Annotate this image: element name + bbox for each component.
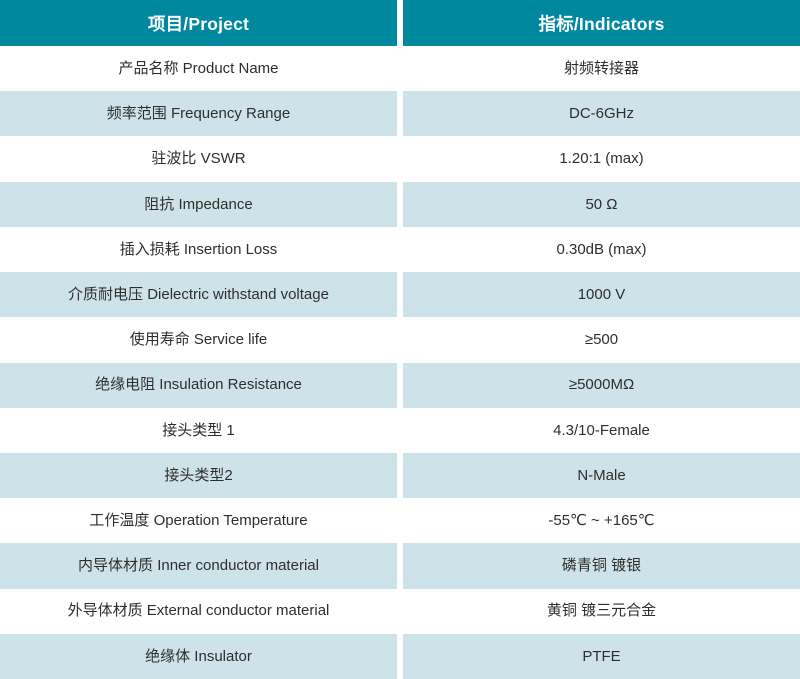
table-row: 绝缘体 InsulatorPTFE xyxy=(0,634,800,679)
specification-table: 项目/Project 指标/Indicators 产品名称 Product Na… xyxy=(0,0,800,679)
table-row: 频率范围 Frequency RangeDC-6GHz xyxy=(0,91,800,136)
cell-project: 阻抗 Impedance xyxy=(0,182,397,227)
cell-project: 接头类型 1 xyxy=(0,408,397,453)
cell-project: 频率范围 Frequency Range xyxy=(0,91,397,136)
cell-indicator: 1000 V xyxy=(403,272,800,317)
cell-indicator: -55℃ ~ +165℃ xyxy=(403,498,800,543)
cell-project: 插入损耗 Insertion Loss xyxy=(0,227,397,272)
table-row: 介质耐电压 Dielectric withstand voltage1000 V xyxy=(0,272,800,317)
column-header-project: 项目/Project xyxy=(0,0,397,46)
table-row: 使用寿命 Service life≥500 xyxy=(0,317,800,362)
table-row: 接头类型2N-Male xyxy=(0,453,800,498)
table-row: 驻波比 VSWR1.20:1 (max) xyxy=(0,136,800,181)
table-row: 阻抗 Impedance50 Ω xyxy=(0,182,800,227)
table-header-row: 项目/Project 指标/Indicators xyxy=(0,0,800,46)
cell-project: 内导体材质 Inner conductor material xyxy=(0,543,397,588)
cell-project: 介质耐电压 Dielectric withstand voltage xyxy=(0,272,397,317)
cell-indicator: 50 Ω xyxy=(403,182,800,227)
cell-indicator: N-Male xyxy=(403,453,800,498)
cell-indicator: ≥5000MΩ xyxy=(403,363,800,408)
table-row: 插入损耗 Insertion Loss0.30dB (max) xyxy=(0,227,800,272)
cell-indicator: 4.3/10-Female xyxy=(403,408,800,453)
cell-indicator: 磷青铜 镀银 xyxy=(403,543,800,588)
cell-project: 工作温度 Operation Temperature xyxy=(0,498,397,543)
cell-project: 产品名称 Product Name xyxy=(0,46,397,91)
cell-project: 接头类型2 xyxy=(0,453,397,498)
cell-project: 绝缘体 Insulator xyxy=(0,634,397,679)
column-header-indicators: 指标/Indicators xyxy=(403,0,800,46)
cell-indicator: 射频转接器 xyxy=(403,46,800,91)
cell-project: 绝缘电阻 Insulation Resistance xyxy=(0,363,397,408)
table-row: 产品名称 Product Name射频转接器 xyxy=(0,46,800,91)
table-row: 绝缘电阻 Insulation Resistance≥5000MΩ xyxy=(0,363,800,408)
cell-indicator: 0.30dB (max) xyxy=(403,227,800,272)
cell-indicator: 黄铜 镀三元合金 xyxy=(403,589,800,634)
cell-indicator: ≥500 xyxy=(403,317,800,362)
cell-indicator: 1.20:1 (max) xyxy=(403,136,800,181)
table-row: 外导体材质 External conductor material黄铜 镀三元合… xyxy=(0,589,800,634)
table-row: 工作温度 Operation Temperature-55℃ ~ +165℃ xyxy=(0,498,800,543)
cell-indicator: DC-6GHz xyxy=(403,91,800,136)
cell-project: 使用寿命 Service life xyxy=(0,317,397,362)
table-row: 接头类型 14.3/10-Female xyxy=(0,408,800,453)
cell-project: 外导体材质 External conductor material xyxy=(0,589,397,634)
table-body: 产品名称 Product Name射频转接器频率范围 Frequency Ran… xyxy=(0,46,800,679)
cell-project: 驻波比 VSWR xyxy=(0,136,397,181)
table-row: 内导体材质 Inner conductor material磷青铜 镀银 xyxy=(0,543,800,588)
cell-indicator: PTFE xyxy=(403,634,800,679)
